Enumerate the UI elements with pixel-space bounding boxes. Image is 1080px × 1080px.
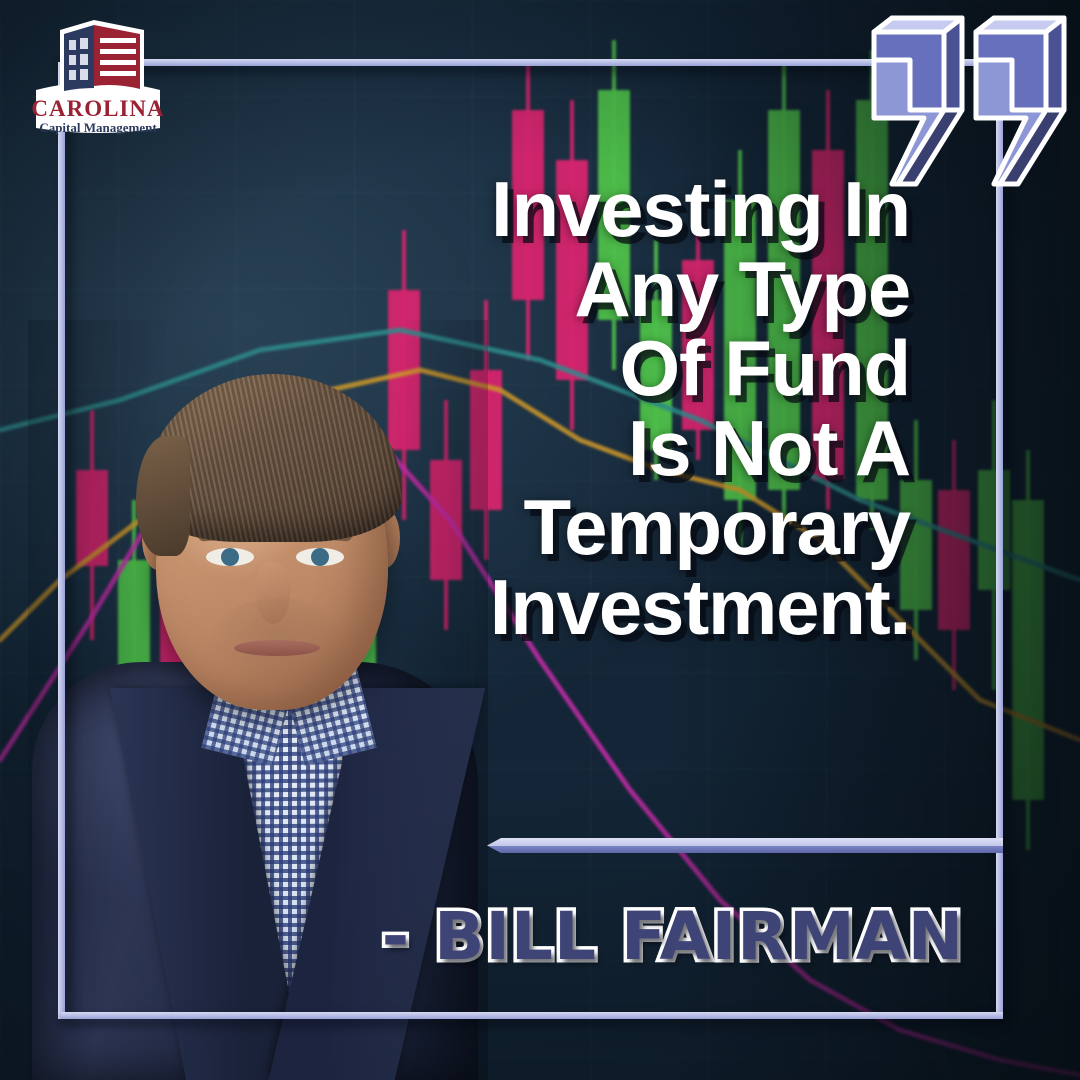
frame-border-bottom — [61, 1012, 1003, 1019]
logo-primary-text: CAROLINA — [31, 96, 164, 121]
quote-graphic-canvas: CAROLINA Capital Management Investing In… — [0, 0, 1080, 1080]
quote-line-4: Is Not A — [250, 409, 910, 489]
logo-secondary-text: Capital Management — [39, 120, 157, 135]
frame-border-right — [996, 62, 1003, 1019]
quote-text: Investing InAny TypeOf FundIs Not ATempo… — [250, 170, 910, 647]
quote-line-5: Temporary — [250, 488, 910, 568]
quote-line-6: Investment. — [250, 568, 910, 648]
accent-divider-bar — [487, 838, 1003, 853]
carolina-capital-management-logo[interactable]: CAROLINA Capital Management — [24, 16, 172, 140]
quote-line-2: Any Type — [250, 250, 910, 330]
attribution-name: - BILL FAIRMAN — [320, 898, 964, 975]
quote-line-1: Investing In — [250, 170, 910, 250]
portrait-eye-left — [206, 548, 254, 566]
quote-line-3: Of Fund — [250, 329, 910, 409]
portrait-sideburn — [136, 436, 190, 556]
frame-border-left — [58, 62, 65, 1019]
frame-border-top — [61, 59, 1003, 66]
